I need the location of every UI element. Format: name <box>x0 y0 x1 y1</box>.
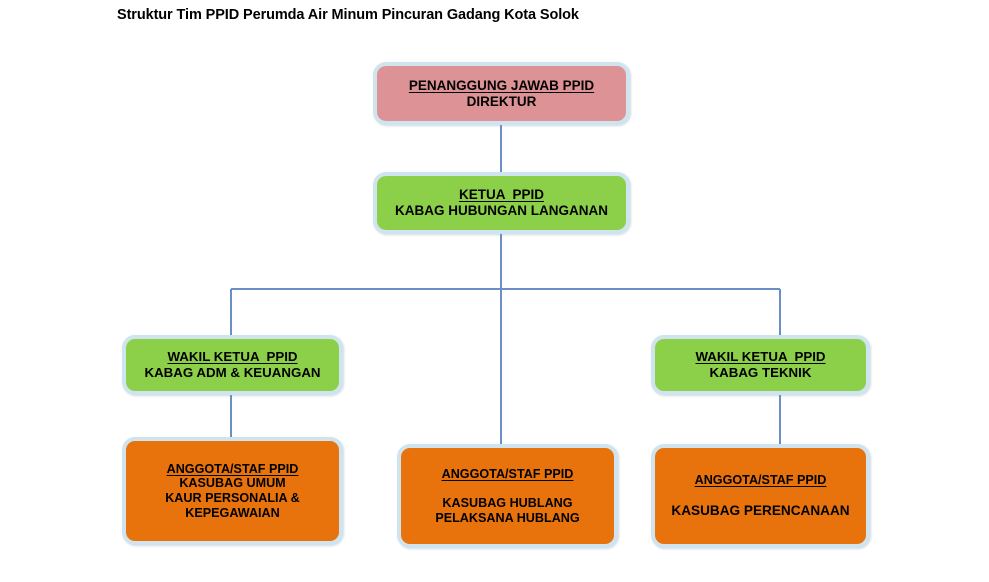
node-wakil-ketua-teknik[interactable]: WAKIL KETUA PPID KABAG TEKNIK <box>651 335 870 395</box>
node-heading: WAKIL KETUA PPID <box>695 349 825 365</box>
node-detail-line: KASUBAG HUBLANG <box>442 496 572 511</box>
node-penanggung-jawab-ppid[interactable]: PENANGGUNG JAWAB PPID DIREKTUR <box>373 62 630 125</box>
node-detail-line: KASUBAG UMUM <box>179 476 285 491</box>
node-detail-line: PELAKSANA HUBLANG <box>435 511 579 526</box>
node-anggota-staf-hublang[interactable]: ANGGOTA/STAF PPID KASUBAG HUBLANG PELAKS… <box>397 444 618 548</box>
node-detail-line: KAUR PERSONALIA & <box>165 491 300 506</box>
node-wakil-ketua-adm-keuangan[interactable]: WAKIL KETUA PPID KABAG ADM & KEUANGAN <box>122 335 343 395</box>
node-heading: WAKIL KETUA PPID <box>167 349 297 365</box>
node-heading: ANGGOTA/STAF PPID <box>167 462 299 477</box>
node-detail-line: KASUBAG PERENCANAAN <box>671 503 849 519</box>
node-detail-line: KEPEGAWAIAN <box>185 506 279 521</box>
node-detail-line: DIREKTUR <box>467 94 537 110</box>
node-heading: PENANGGUNG JAWAB PPID <box>409 78 594 94</box>
node-detail-line: KABAG TEKNIK <box>710 365 812 381</box>
node-anggota-staf-perencanaan[interactable]: ANGGOTA/STAF PPID KASUBAG PERENCANAAN <box>651 444 870 548</box>
page-title: Struktur Tim PPID Perumda Air Minum Pinc… <box>117 7 579 23</box>
node-ketua-ppid[interactable]: KETUA PPID KABAG HUBUNGAN LANGANAN <box>373 172 630 234</box>
node-detail-line: KABAG HUBUNGAN LANGANAN <box>395 203 608 219</box>
node-detail-line: KABAG ADM & KEUANGAN <box>144 365 320 381</box>
org-chart-canvas: Struktur Tim PPID Perumda Air Minum Pinc… <box>0 0 989 582</box>
node-heading: ANGGOTA/STAF PPID <box>442 467 574 482</box>
node-anggota-staf-umum[interactable]: ANGGOTA/STAF PPID KASUBAG UMUM KAUR PERS… <box>122 437 343 545</box>
node-heading: KETUA PPID <box>459 187 544 203</box>
node-heading: ANGGOTA/STAF PPID <box>695 473 827 488</box>
